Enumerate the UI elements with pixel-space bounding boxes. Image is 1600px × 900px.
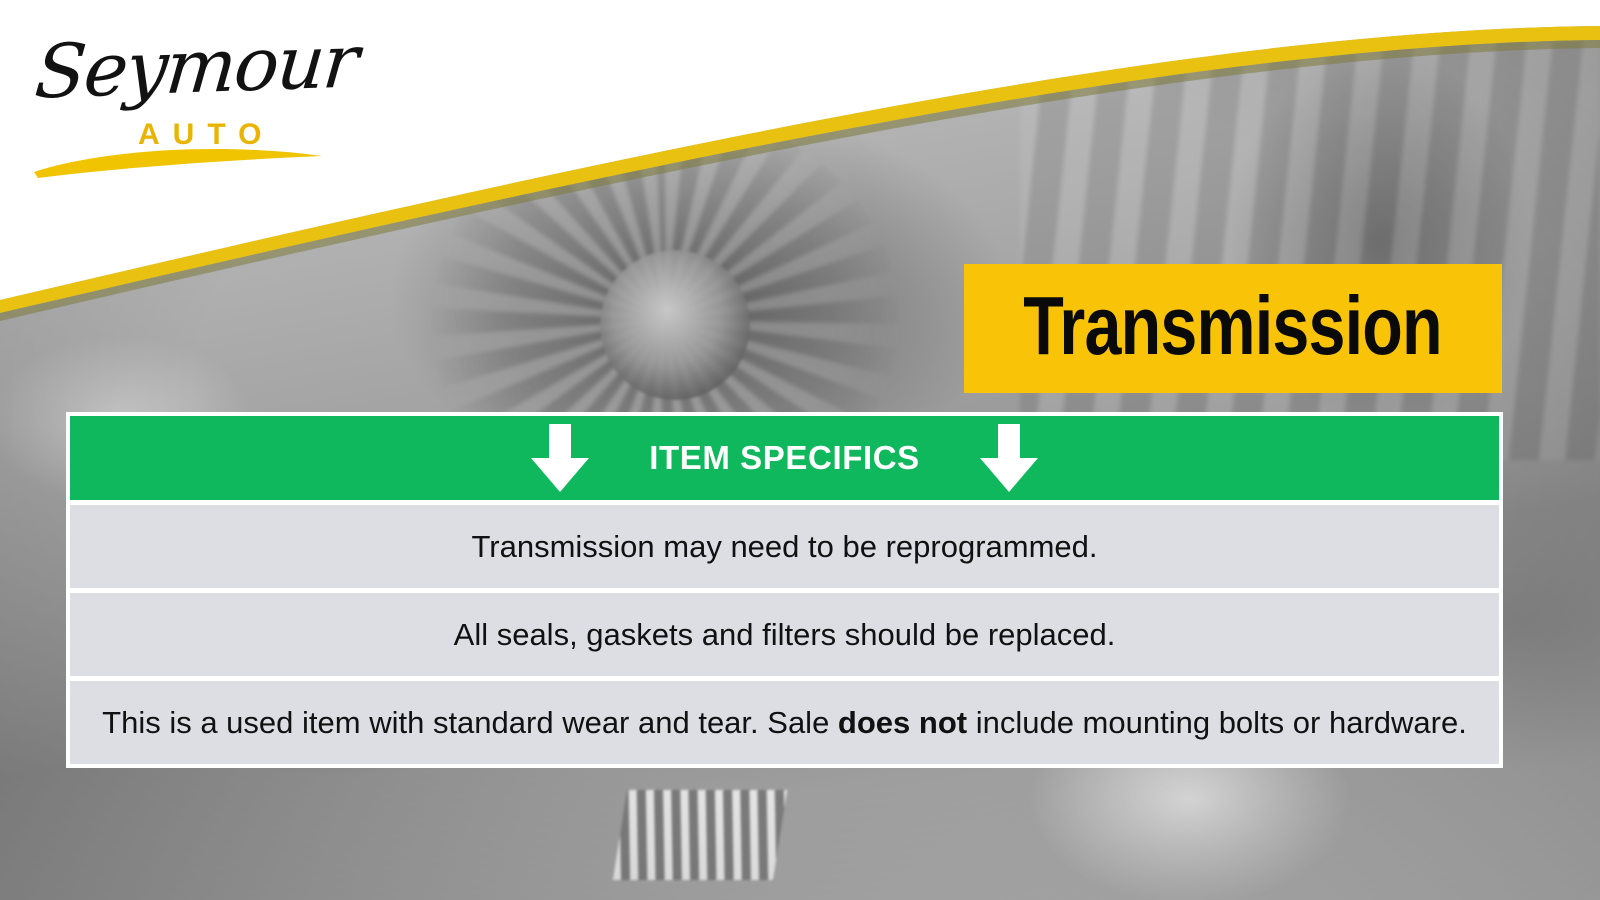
logo-wordmark: Seymour	[32, 18, 361, 115]
title-banner: Transmission	[964, 264, 1502, 393]
logo-subtext: AUTO	[138, 118, 274, 152]
table-row: This is a used item with standard wear a…	[70, 681, 1499, 764]
table-row: All seals, gaskets and filters should be…	[70, 593, 1499, 676]
slide-canvas: Seymour AUTO Transmission ITEM SPECIFICS…	[0, 0, 1600, 900]
spec-row-prefix: This is a used item with standard wear a…	[102, 705, 838, 740]
item-specifics-header: ITEM SPECIFICS	[70, 416, 1499, 500]
item-specifics-table: ITEM SPECIFICS Transmission may need to …	[66, 412, 1503, 768]
spec-row-text-rich: This is a used item with standard wear a…	[102, 705, 1467, 741]
down-arrow-icon	[529, 422, 591, 494]
spec-row-suffix: include mounting bolts or hardware.	[967, 705, 1467, 740]
logo[interactable]: Seymour AUTO	[30, 22, 330, 177]
spec-row-text: All seals, gaskets and filters should be…	[454, 617, 1116, 653]
item-specifics-label: ITEM SPECIFICS	[649, 439, 920, 477]
table-row: Transmission may need to be reprogrammed…	[70, 505, 1499, 588]
down-arrow-icon	[978, 422, 1040, 494]
page-title: Transmission	[1024, 284, 1442, 373]
spec-row-text: Transmission may need to be reprogrammed…	[471, 529, 1097, 565]
spec-row-emphasis: does not	[838, 705, 967, 740]
